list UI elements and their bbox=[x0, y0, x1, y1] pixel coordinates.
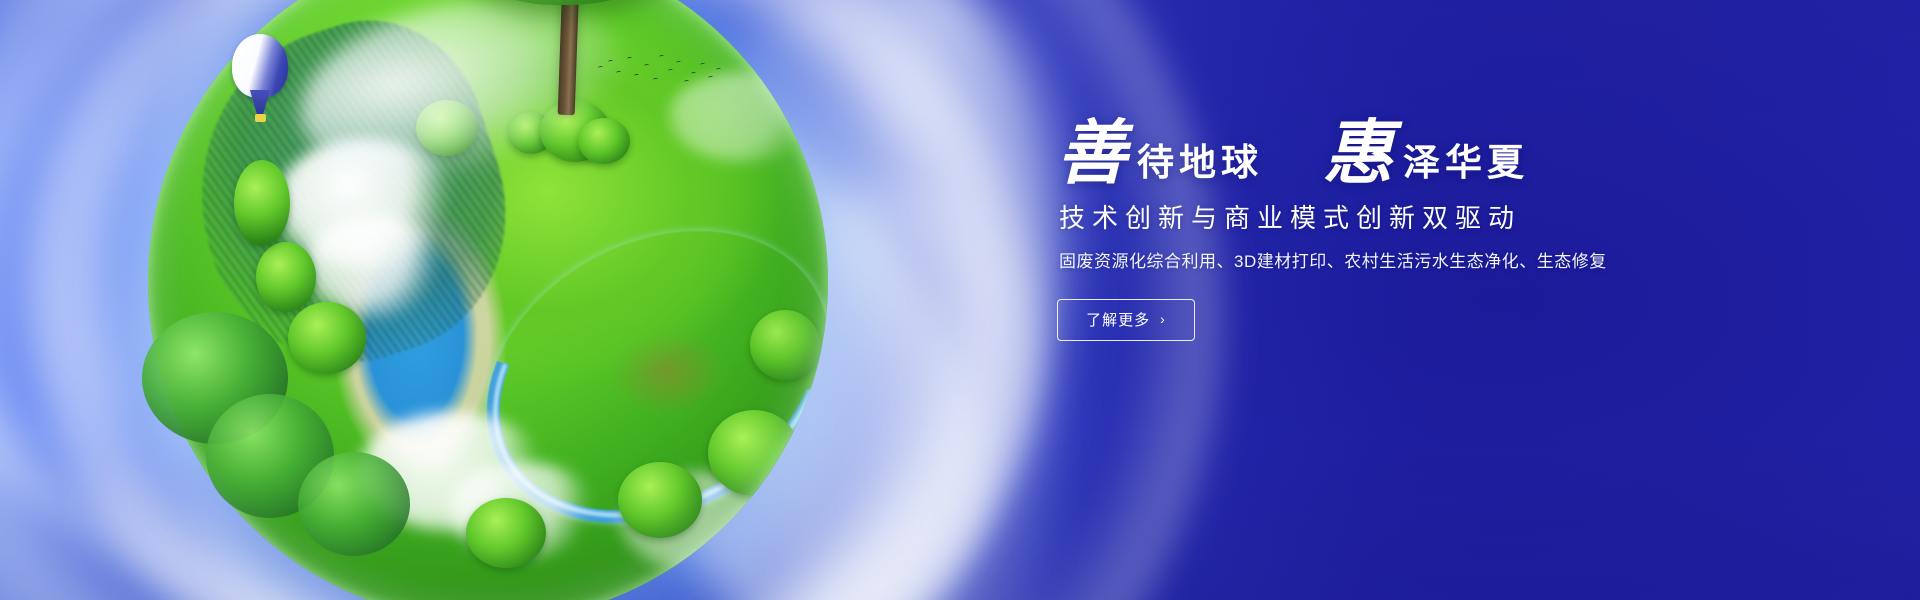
subtitle: 技术创新与商业模式创新双驱动 bbox=[1059, 204, 1817, 233]
learn-more-button[interactable]: 了解更多 › bbox=[1057, 299, 1195, 341]
hero-text-block: 善 待地球 惠 泽华夏 技术创新与商业模式创新双驱动 固废资源化综合利用、3D建… bbox=[1057, 120, 1817, 341]
headline-char-1: 善 bbox=[1057, 120, 1127, 190]
balloon-envelope bbox=[232, 34, 288, 98]
bird-flock bbox=[596, 52, 726, 94]
description-line: 固废资源化综合利用、3D建材打印、农村生活污水生态净化、生态修复 bbox=[1059, 251, 1817, 273]
hot-air-balloon-icon bbox=[232, 34, 294, 130]
headline-char-2: 惠 bbox=[1323, 120, 1393, 190]
headline-words-2: 泽华夏 bbox=[1393, 145, 1529, 190]
headline-words-1: 待地球 bbox=[1127, 145, 1263, 190]
hero-banner: 善 待地球 惠 泽华夏 技术创新与商业模式创新双驱动 固废资源化综合利用、3D建… bbox=[0, 0, 1920, 600]
tree-canopy bbox=[448, 0, 698, 5]
balloon-taper bbox=[250, 90, 270, 114]
balloon-basket bbox=[255, 114, 266, 122]
headline: 善 待地球 惠 泽华夏 bbox=[1057, 120, 1817, 190]
learn-more-label: 了解更多 bbox=[1086, 309, 1150, 330]
chevron-right-icon: › bbox=[1160, 312, 1166, 326]
